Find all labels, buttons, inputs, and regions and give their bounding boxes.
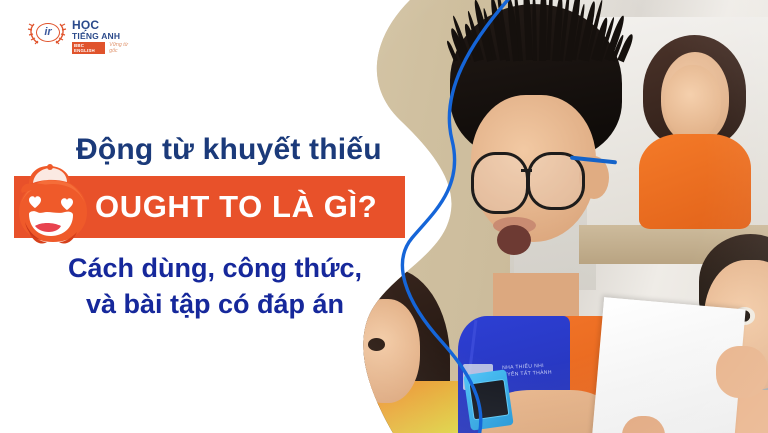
subtitle-line-1: Cách dùng, công thức,	[0, 250, 430, 286]
logo-text-tienganh: TIẾNG ANH	[72, 31, 135, 41]
brand-logo[interactable]: ir HỌC TIẾNG ANH BBC ENGLISH Vững từ gốc	[27, 19, 135, 59]
logo-tagline: Vững từ gốc	[109, 42, 135, 54]
logo-badge-bbc: BBC ENGLISH	[72, 42, 105, 54]
eyebrow-heading: Động từ khuyết thiếu	[76, 133, 382, 167]
logo-text-hoc: HỌC	[72, 20, 135, 31]
subtitle-line-2: và bài tập có đáp án	[0, 286, 430, 322]
subtitle-heading: Cách dùng, công thức, và bài tập có đáp …	[0, 250, 430, 322]
main-title: OUGHT TO LÀ GÌ?	[95, 176, 405, 238]
logo-monogram: ir	[36, 23, 60, 42]
tomato-mascot-icon	[13, 162, 93, 246]
poster-canvas: NHA THIẾU NHI NGUYỄN TẤT THÀNH	[0, 0, 768, 433]
laurel-wreath-icon: ir	[27, 19, 67, 46]
